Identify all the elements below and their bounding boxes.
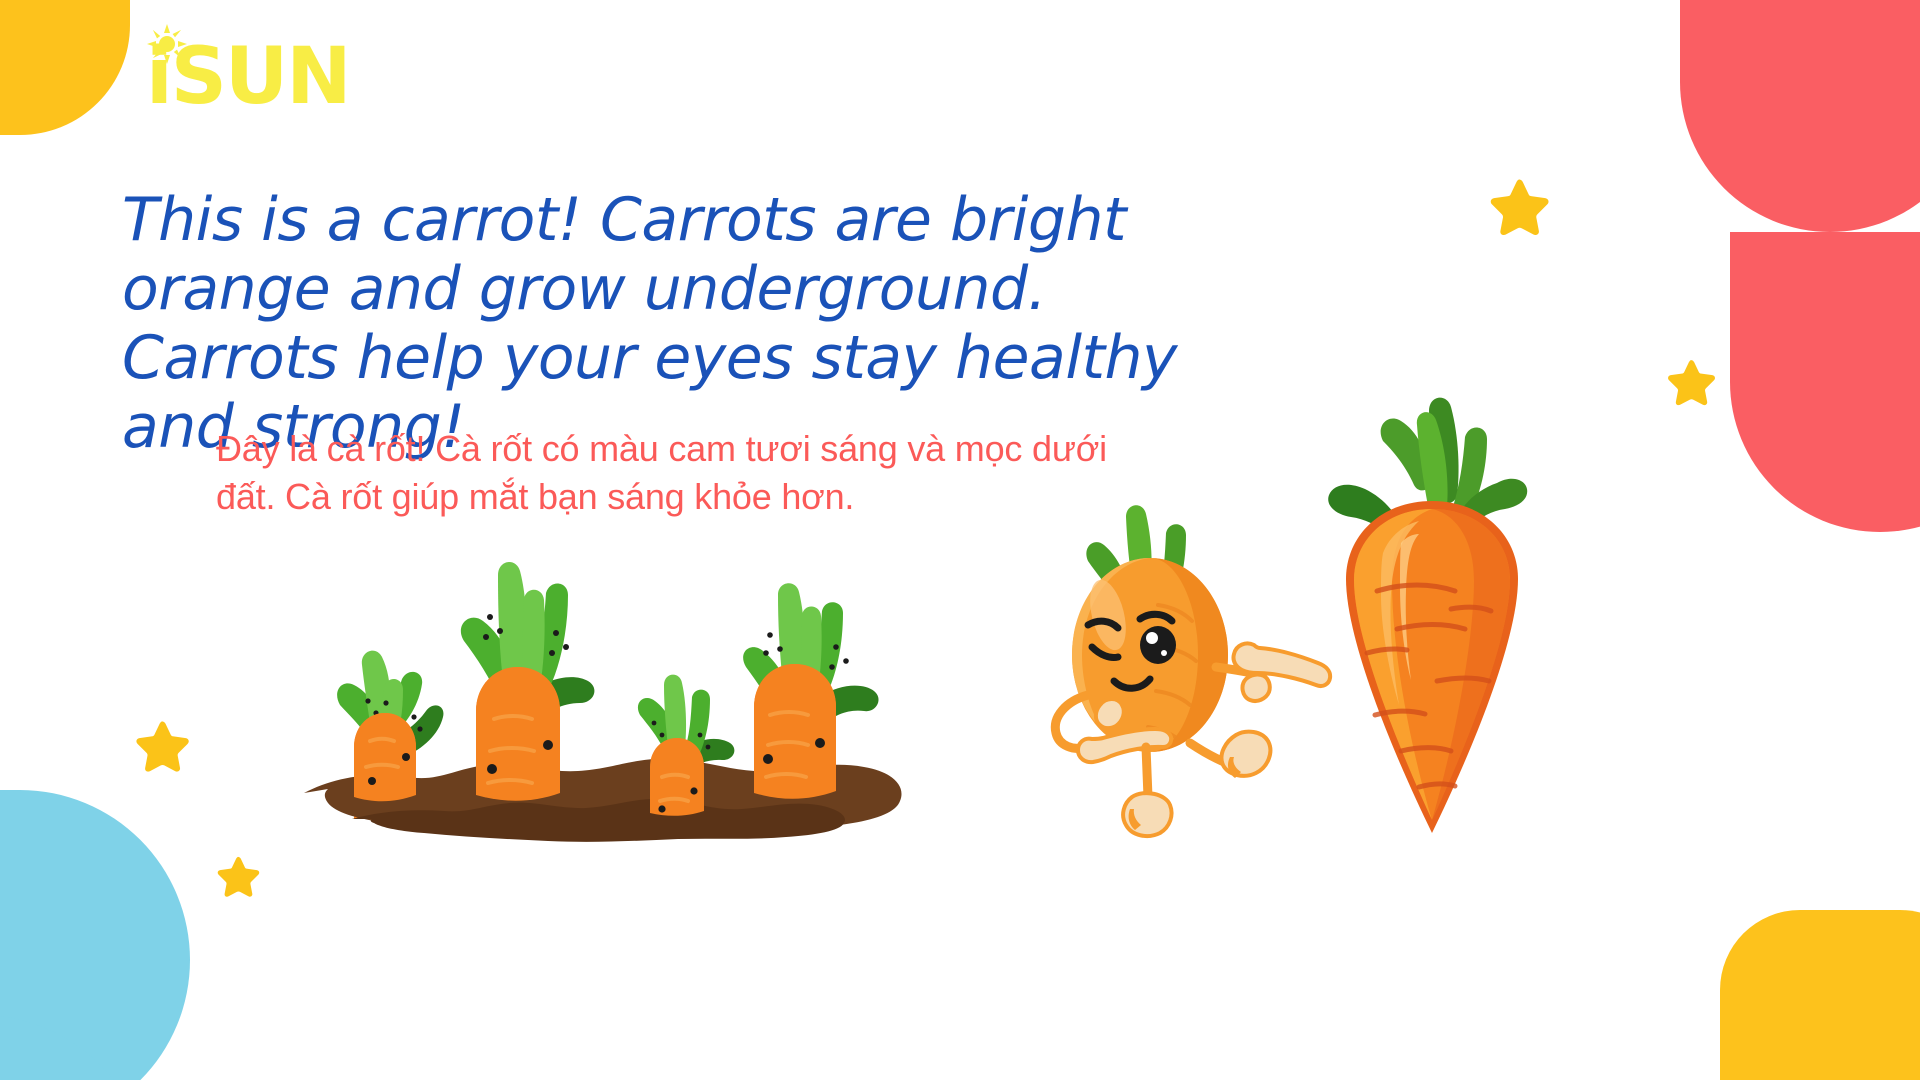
pink-semicircle-top-right-2 xyxy=(1730,232,1920,532)
subline-vietnamese: Đây là cà rốt! Cà rốt có màu cam tươi sá… xyxy=(216,425,1116,520)
carrot-garden-illustration xyxy=(280,555,920,855)
yellow-rounded-corner-top-left xyxy=(0,0,130,135)
sun-icon xyxy=(147,24,187,64)
large-carrot-illustration xyxy=(1325,385,1540,845)
headline-english: This is a carrot! Carrots are bright ora… xyxy=(122,186,1252,462)
yellow-rounded-corner-bottom-right xyxy=(1720,910,1920,1080)
slide-canvas: iSUN This is a carrot! Carrots are brigh… xyxy=(0,0,1920,1080)
star-icon-left-bottom xyxy=(215,855,261,901)
star-icon-top-right xyxy=(1487,177,1551,241)
brand-logo[interactable]: iSUN xyxy=(146,38,350,116)
star-icon-mid-right xyxy=(1665,358,1717,410)
winking-carrot-mascot xyxy=(1030,495,1350,860)
star-icon-left-lower xyxy=(133,719,191,777)
pink-semicircle-top-right-1 xyxy=(1680,0,1920,232)
